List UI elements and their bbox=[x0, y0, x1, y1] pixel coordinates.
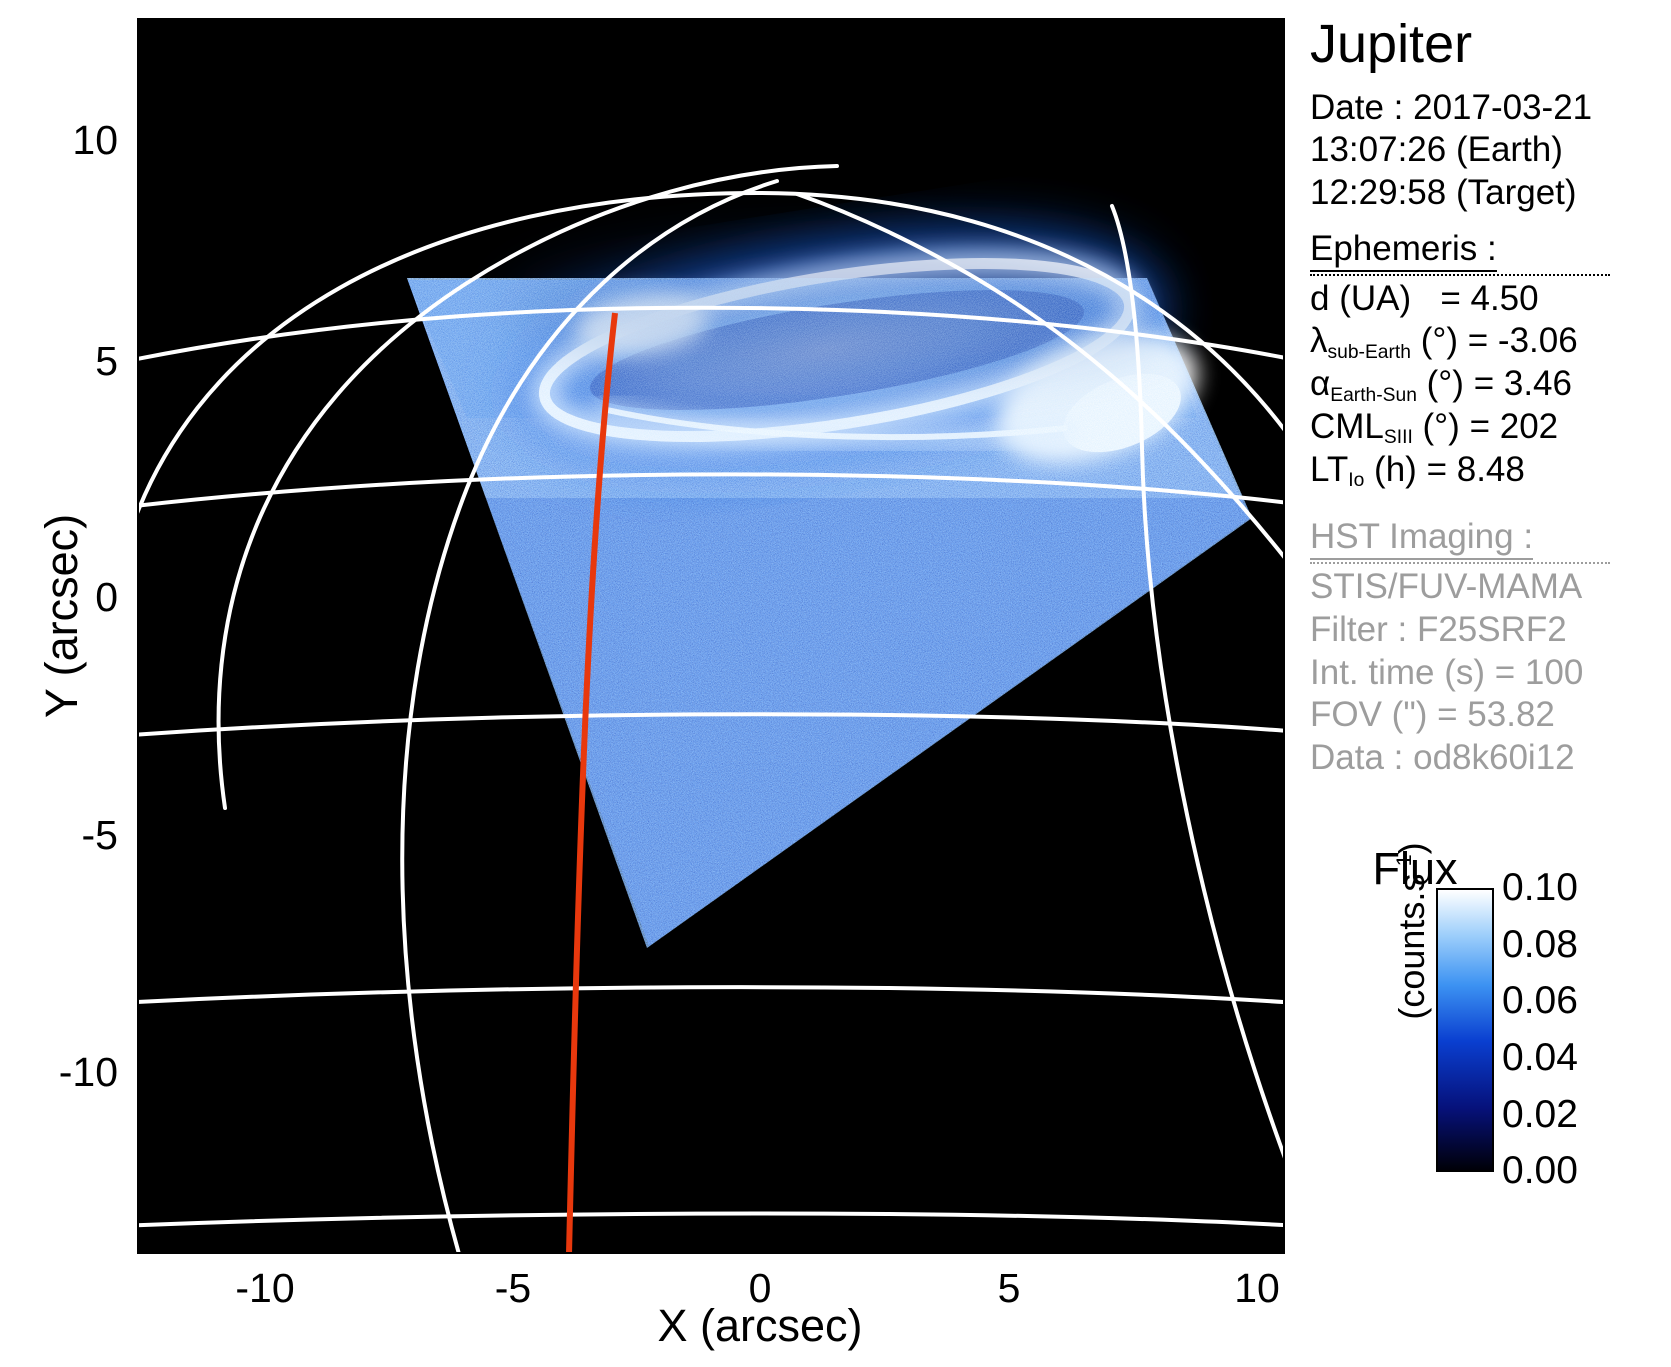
alpha-unit: (°) bbox=[1427, 364, 1464, 403]
y-tick-label: 10 bbox=[8, 120, 118, 161]
observation-date: Date : 2017-03-21 bbox=[1310, 87, 1671, 130]
colorbar-tick-label: 0.06 bbox=[1502, 981, 1578, 1020]
ephemeris-heading: Ephemeris : bbox=[1310, 229, 1497, 272]
observation-time-earth: 13:07:26 (Earth) bbox=[1310, 129, 1671, 172]
lambda-unit: (°) bbox=[1421, 321, 1458, 360]
ephemeris-sub-earth-longitude: λsub-Earth (°) = -3.06 bbox=[1310, 320, 1671, 363]
ephemeris-rule bbox=[1310, 274, 1610, 276]
lambda-symbol: λ bbox=[1310, 321, 1328, 360]
lt-unit: (h) bbox=[1374, 450, 1417, 489]
lt-value: = 8.48 bbox=[1427, 450, 1525, 489]
colorbar-tick-label: 0.08 bbox=[1502, 925, 1578, 964]
colorbar-unit-prefix: (counts.s bbox=[1391, 874, 1432, 1020]
hst-fov: FOV (") = 53.82 bbox=[1310, 694, 1671, 737]
alpha-symbol: α bbox=[1310, 364, 1330, 403]
colorbar-tick-label: 0.02 bbox=[1502, 1095, 1578, 1134]
colorbar-unit-exponent: -1 bbox=[1391, 854, 1416, 873]
colorbar-axis-title: (counts.s-1) bbox=[1391, 781, 1433, 1081]
distance-label: d (UA) bbox=[1310, 279, 1411, 318]
cml-value: = 202 bbox=[1470, 407, 1559, 446]
distance-value: = 4.50 bbox=[1440, 279, 1538, 318]
y-tick-label: -10 bbox=[8, 1052, 118, 1093]
colorbar-tick-label: 0.10 bbox=[1502, 868, 1578, 907]
ephemeris-io-local-time: LTIo (h) = 8.48 bbox=[1310, 449, 1671, 492]
x-tick-label: -10 bbox=[185, 1268, 345, 1309]
ephemeris-distance: d (UA) = 4.50 bbox=[1310, 278, 1671, 321]
cml-label: CML bbox=[1310, 407, 1384, 446]
ephemeris-phase-angle: αEarth-Sun (°) = 3.46 bbox=[1310, 363, 1671, 406]
lambda-value: = -3.06 bbox=[1468, 321, 1578, 360]
y-tick-label: -5 bbox=[8, 815, 118, 856]
colorbar-unit-suffix: ) bbox=[1391, 842, 1432, 854]
flux-colorbar bbox=[1436, 888, 1494, 1172]
alpha-subscript: Earth-Sun bbox=[1330, 385, 1417, 406]
sky-overlay bbox=[137, 18, 1285, 1254]
lt-label: LT bbox=[1310, 450, 1348, 489]
alpha-value: = 3.46 bbox=[1474, 364, 1572, 403]
observation-time-target: 12:29:58 (Target) bbox=[1310, 172, 1671, 215]
x-axis-title: X (arcsec) bbox=[530, 1300, 990, 1352]
y-axis-title: Y (arcsec) bbox=[36, 436, 88, 796]
hst-data-id: Data : od8k60i12 bbox=[1310, 737, 1671, 780]
cml-subscript: SIII bbox=[1384, 427, 1413, 448]
hst-imaging-heading: HST Imaging : bbox=[1310, 517, 1533, 560]
hst-integration-time: Int. time (s) = 100 bbox=[1310, 652, 1671, 695]
x-tick-label: 10 bbox=[1177, 1268, 1337, 1309]
ephemeris-cml: CMLSIII (°) = 202 bbox=[1310, 406, 1671, 449]
hst-instrument: STIS/FUV-MAMA bbox=[1310, 566, 1671, 609]
info-panel: Jupiter Date : 2017-03-21 13:07:26 (Eart… bbox=[1300, 0, 1671, 800]
target-title: Jupiter bbox=[1310, 16, 1671, 73]
hst-imaging-rule bbox=[1310, 562, 1610, 564]
colorbar-tick-label: 0.04 bbox=[1502, 1038, 1578, 1077]
aurora-image-plot bbox=[137, 18, 1285, 1254]
colorbar-tick-label: 0.00 bbox=[1502, 1151, 1578, 1190]
hst-filter: Filter : F25SRF2 bbox=[1310, 609, 1671, 652]
lambda-subscript: sub-Earth bbox=[1328, 342, 1411, 363]
lt-subscript: Io bbox=[1348, 470, 1364, 491]
y-tick-label: 5 bbox=[8, 341, 118, 382]
cml-unit: (°) bbox=[1423, 407, 1460, 446]
